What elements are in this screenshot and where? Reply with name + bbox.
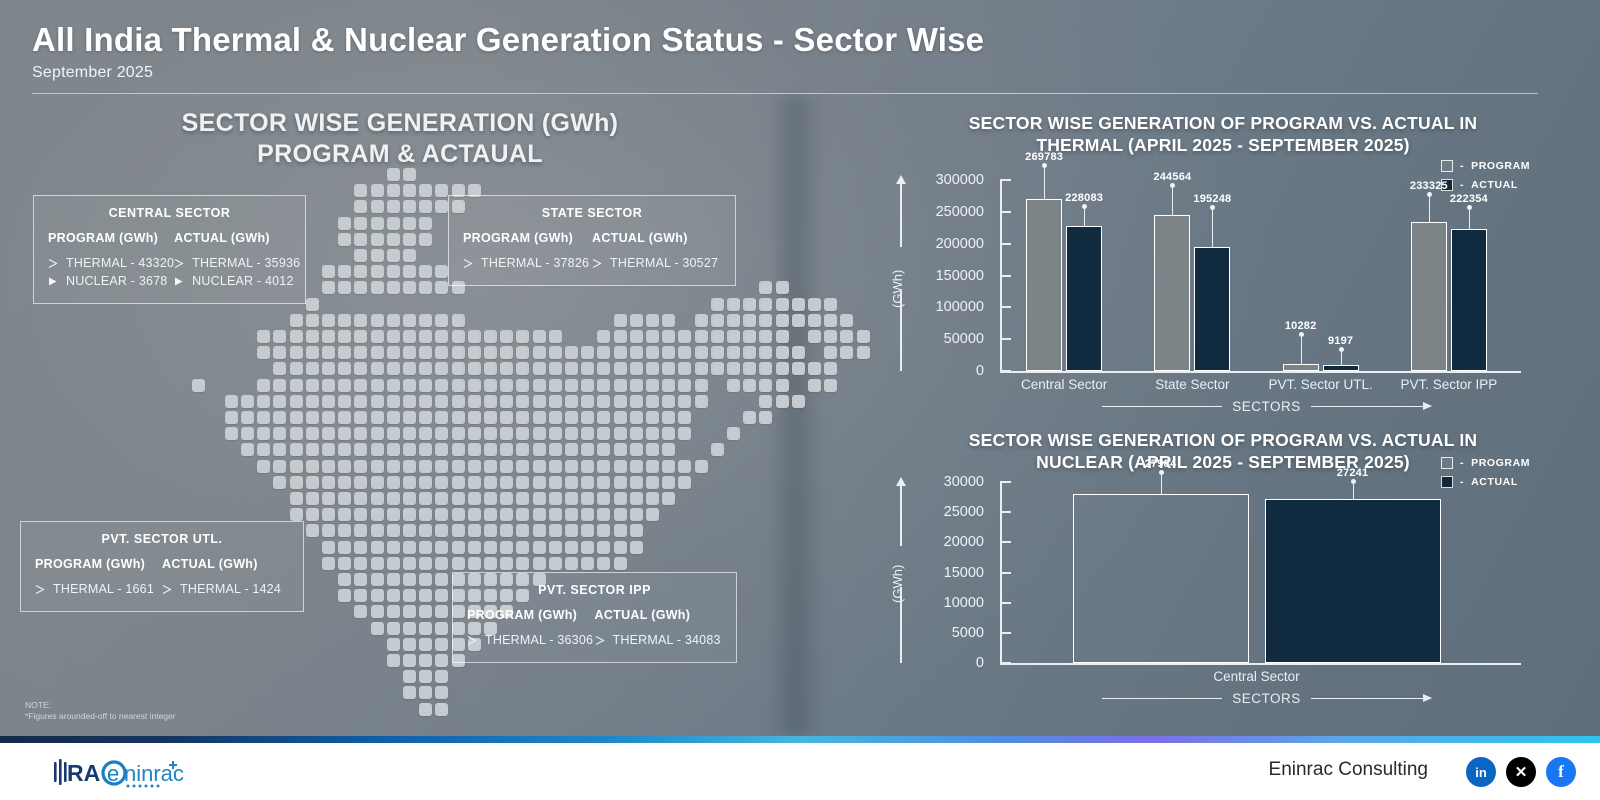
map-dot (371, 427, 384, 440)
map-dot (371, 589, 384, 602)
map-dot (662, 427, 675, 440)
map-dot (387, 184, 400, 197)
map-dot (435, 654, 448, 667)
rac-eninrac-logo: RA e ninrac (52, 755, 187, 791)
map-dot (630, 411, 643, 424)
map-dot (581, 541, 594, 554)
map-dot (435, 589, 448, 602)
map-dot (727, 427, 740, 440)
map-dot (516, 346, 529, 359)
info-card-central-sector: CENTRAL SECTOR PROGRAM (GWh) THERMAL - 4… (33, 195, 306, 304)
map-dot (533, 411, 546, 424)
map-dot (565, 443, 578, 456)
column-header-program: PROGRAM (GWh) (35, 557, 162, 571)
map-dot (290, 427, 303, 440)
map-dot (371, 200, 384, 213)
y-axis-tick-mark (1000, 306, 1011, 308)
bar-value-label: 244564 (1142, 171, 1202, 183)
map-dot (662, 330, 675, 343)
map-dot (500, 508, 513, 521)
map-dot (435, 265, 448, 278)
y-axis-tick-mark (1000, 243, 1011, 245)
map-dot (662, 346, 675, 359)
map-dot (354, 265, 367, 278)
map-dot (419, 476, 432, 489)
map-dot (452, 379, 465, 392)
map-dot (403, 443, 416, 456)
map-dot (630, 362, 643, 375)
map-dot (533, 427, 546, 440)
map-dot (387, 379, 400, 392)
map-dot (614, 476, 627, 489)
map-dot (776, 362, 789, 375)
map-dot (403, 168, 416, 181)
list-item: THERMAL - 35936 (174, 254, 300, 272)
bar-actual (1194, 247, 1230, 371)
column-header-program: PROGRAM (GWh) (48, 231, 174, 245)
map-dot (403, 427, 416, 440)
map-dot (338, 508, 351, 521)
map-dot (662, 443, 675, 456)
map-dot (338, 541, 351, 554)
thermal-chart-plot: 050000100000150000200000250000300000(GWh… (905, 180, 1525, 395)
list-item: NUCLEAR - 4012 (174, 272, 300, 290)
map-dot (549, 476, 562, 489)
map-dot (387, 233, 400, 246)
map-dot (419, 703, 432, 716)
map-dot (776, 314, 789, 327)
map-dot (452, 541, 465, 554)
map-dot (403, 184, 416, 197)
bar-actual (1066, 226, 1102, 371)
map-dot (678, 346, 691, 359)
map-dot (516, 460, 529, 473)
linkedin-icon[interactable]: in (1466, 757, 1496, 787)
chevron-outline-icon (592, 258, 603, 269)
map-dot (484, 541, 497, 554)
map-dot (646, 346, 659, 359)
card-program-column: PROGRAM (GWh) THERMAL - 36306 (467, 608, 595, 649)
list-item: NUCLEAR - 3678 (48, 272, 174, 290)
map-dot (549, 362, 562, 375)
map-dot (306, 362, 319, 375)
map-dot (597, 492, 610, 505)
map-dot (435, 670, 448, 683)
map-dot (387, 654, 400, 667)
map-dot (597, 508, 610, 521)
map-dot (614, 314, 627, 327)
map-dot (549, 492, 562, 505)
map-dot (371, 541, 384, 554)
map-dot (419, 524, 432, 537)
logo-mark-icon: RA e ninrac (52, 756, 187, 790)
map-dot (419, 654, 432, 667)
map-dot (419, 508, 432, 521)
map-dot (597, 476, 610, 489)
x-axis-category-label: Central Sector (1177, 669, 1337, 684)
map-dot (322, 541, 335, 554)
map-dot (484, 443, 497, 456)
map-dot (824, 346, 837, 359)
bar-value-label: 228083 (1054, 192, 1114, 204)
map-dot (322, 395, 335, 408)
map-dot (403, 314, 416, 327)
value-leader-line (1212, 207, 1213, 247)
map-dot (500, 346, 513, 359)
map-dot (371, 346, 384, 359)
map-dot (403, 379, 416, 392)
map-dot (840, 330, 853, 343)
map-dot (614, 492, 627, 505)
map-dot (338, 330, 351, 343)
map-dot (759, 298, 772, 311)
card-actual-column: ACTUAL (GWh) THERMAL - 1424 (162, 557, 289, 598)
map-dot (468, 476, 481, 489)
map-dot (727, 362, 740, 375)
map-dot (533, 508, 546, 521)
map-dot (338, 281, 351, 294)
map-dot (354, 589, 367, 602)
map-dot (435, 476, 448, 489)
map-dot (711, 362, 724, 375)
map-dot (371, 492, 384, 505)
map-dot (549, 411, 562, 424)
map-dot (516, 476, 529, 489)
map-dot (484, 524, 497, 537)
map-dot (468, 411, 481, 424)
map-dot (403, 573, 416, 586)
map-dot (257, 443, 270, 456)
map-dot (354, 362, 367, 375)
map-dot (759, 330, 772, 343)
map-dot (549, 508, 562, 521)
map-dot (662, 411, 675, 424)
map-dot (322, 427, 335, 440)
left-panel-title: SECTOR WISE GENERATION (GWh) PROGRAM & A… (120, 108, 680, 170)
map-dot (371, 476, 384, 489)
bar-value-label: 222354 (1439, 193, 1499, 205)
facebook-glyph: f (1558, 762, 1564, 782)
card-program-column: PROGRAM (GWh) THERMAL - 43320 NUCLEAR - … (48, 231, 174, 290)
page-title: All India Thermal & Nuclear Generation S… (32, 22, 1542, 58)
map-dot (273, 346, 286, 359)
map-dot (419, 200, 432, 213)
map-dot (387, 411, 400, 424)
map-dot (533, 476, 546, 489)
map-dot (516, 508, 529, 521)
map-dot (290, 330, 303, 343)
map-dot (597, 541, 610, 554)
map-dot (338, 379, 351, 392)
map-dot (403, 249, 416, 262)
value-leader-line (1301, 334, 1302, 364)
bar-program (1154, 215, 1190, 371)
map-dot (759, 362, 772, 375)
footer: RA e ninrac Eninrac Consulting in ✕ f (0, 743, 1600, 800)
info-card-pvt-sector-ipp: PVT. SECTOR IPP PROGRAM (GWh) THERMAL - … (452, 572, 737, 663)
map-dot (711, 298, 724, 311)
map-dot (419, 638, 432, 651)
map-dot (419, 492, 432, 505)
map-dot (306, 508, 319, 521)
value-leader-line (1172, 185, 1173, 215)
map-dot (743, 379, 756, 392)
map-dot (273, 443, 286, 456)
map-dot (516, 411, 529, 424)
map-dot (759, 379, 772, 392)
map-dot (435, 541, 448, 554)
map-dot (727, 330, 740, 343)
map-dot (403, 265, 416, 278)
x-axis-label: SECTORS (1232, 399, 1301, 414)
legend-item-program: - PROGRAM (1441, 160, 1530, 172)
map-dot (597, 346, 610, 359)
map-dot (533, 379, 546, 392)
map-dot (354, 443, 367, 456)
map-dot (371, 265, 384, 278)
card-title: PVT. SECTOR UTL. (35, 532, 289, 546)
bar-value-label: 9197 (1311, 335, 1371, 347)
map-dot (387, 249, 400, 262)
y-axis-tick-label: 15000 (944, 565, 984, 581)
infographic-page: All India Thermal & Nuclear Generation S… (0, 0, 1600, 800)
map-dot (646, 427, 659, 440)
map-dot (695, 460, 708, 473)
map-dot (695, 314, 708, 327)
map-dot (435, 703, 448, 716)
map-dot (387, 492, 400, 505)
map-dot (452, 427, 465, 440)
map-dot (549, 557, 562, 570)
map-dot (808, 298, 821, 311)
y-axis-tick-label: 5000 (952, 625, 984, 641)
y-axis-tick-label: 250000 (936, 204, 984, 220)
map-dot (533, 541, 546, 554)
list-item: THERMAL - 1424 (162, 580, 289, 598)
map-dot (484, 346, 497, 359)
y-axis-tick-mark (1000, 275, 1011, 277)
map-dot (581, 346, 594, 359)
map-dot (322, 379, 335, 392)
map-dot (646, 362, 659, 375)
map-dot (387, 589, 400, 602)
map-dot (468, 557, 481, 570)
map-dot (662, 379, 675, 392)
map-dot (533, 362, 546, 375)
legend-dash: - (1460, 457, 1464, 469)
map-dot (387, 557, 400, 570)
map-dot (468, 330, 481, 343)
map-dot (257, 330, 270, 343)
map-dot (759, 395, 772, 408)
list-item-label: THERMAL - 35936 (192, 254, 300, 272)
y-axis-tick-label: 25000 (944, 504, 984, 520)
column-header-actual: ACTUAL (GWh) (174, 231, 300, 245)
legend-swatch-program (1441, 457, 1453, 469)
map-dot (468, 427, 481, 440)
map-dot (306, 524, 319, 537)
map-dot (338, 217, 351, 230)
map-dot (662, 476, 675, 489)
map-dot (630, 427, 643, 440)
map-dot (808, 314, 821, 327)
twitter-x-icon[interactable]: ✕ (1506, 757, 1536, 787)
map-dot (533, 443, 546, 456)
map-dot (792, 362, 805, 375)
map-dot (484, 395, 497, 408)
map-dot (403, 411, 416, 424)
map-dot (435, 557, 448, 570)
map-dot (533, 395, 546, 408)
map-dot (419, 605, 432, 618)
map-dot (306, 298, 319, 311)
map-dot (338, 589, 351, 602)
map-dot (322, 460, 335, 473)
map-dot (630, 443, 643, 456)
map-dot (484, 427, 497, 440)
list-item-label: THERMAL - 1424 (180, 580, 281, 598)
map-dot (581, 476, 594, 489)
map-dot (549, 541, 562, 554)
bar-program (1283, 364, 1319, 371)
card-program-column: PROGRAM (GWh) THERMAL - 1661 (35, 557, 162, 598)
map-dot (290, 314, 303, 327)
map-dot (565, 379, 578, 392)
map-dot (759, 314, 772, 327)
map-dot (290, 508, 303, 521)
map-dot (290, 476, 303, 489)
thermal-chart-title-line1: SECTOR WISE GENERATION OF PROGRAM VS. AC… (905, 112, 1541, 134)
x-axis-line (1000, 371, 1521, 373)
map-dot (500, 411, 513, 424)
map-dot (743, 314, 756, 327)
value-leader-line (1161, 472, 1162, 494)
map-dot (322, 362, 335, 375)
map-dot (484, 476, 497, 489)
map-dot (322, 330, 335, 343)
thermal-chart-title-line2: THERMAL (APRIL 2025 - SEPTEMBER 2025) (905, 134, 1541, 156)
map-dot (419, 622, 432, 635)
map-dot (354, 492, 367, 505)
map-dot (273, 460, 286, 473)
chevron-outline-icon (463, 258, 474, 269)
map-dot (371, 460, 384, 473)
map-dot (419, 314, 432, 327)
map-dot (484, 330, 497, 343)
map-dot (338, 362, 351, 375)
bar-program (1073, 494, 1249, 663)
map-dot (727, 379, 740, 392)
map-dot (646, 476, 659, 489)
map-dot (646, 395, 659, 408)
y-axis-tick-mark (1000, 632, 1011, 634)
map-dot (614, 411, 627, 424)
map-dot (387, 200, 400, 213)
map-dot (824, 298, 837, 311)
map-dot (792, 395, 805, 408)
map-dot (371, 524, 384, 537)
map-dot (614, 362, 627, 375)
list-item: THERMAL - 43320 (48, 254, 174, 272)
map-dot (678, 330, 691, 343)
map-dot (678, 427, 691, 440)
list-item: THERMAL - 37826 (463, 254, 592, 272)
map-dot (273, 427, 286, 440)
map-dot (743, 362, 756, 375)
map-dot (273, 411, 286, 424)
map-dot (452, 443, 465, 456)
map-dot (403, 508, 416, 521)
map-dot (711, 314, 724, 327)
map-dot (840, 346, 853, 359)
map-dot (419, 346, 432, 359)
legend-label-program: PROGRAM (1471, 160, 1530, 172)
y-axis-tick-mark (1000, 211, 1011, 213)
map-dot (403, 638, 416, 651)
map-dot (290, 443, 303, 456)
map-dot (435, 460, 448, 473)
map-dot (338, 395, 351, 408)
map-dot (776, 298, 789, 311)
map-dot (322, 524, 335, 537)
map-dot (435, 346, 448, 359)
map-dot (419, 557, 432, 570)
map-dot (808, 362, 821, 375)
map-dot (614, 379, 627, 392)
map-dot (808, 379, 821, 392)
x-axis-category-label: PVT. Sector IPP (1369, 377, 1529, 392)
info-card-state-sector: STATE SECTOR PROGRAM (GWh) THERMAL - 378… (448, 195, 736, 286)
map-dot (338, 233, 351, 246)
map-dot (500, 476, 513, 489)
map-dot (597, 411, 610, 424)
map-dot (597, 524, 610, 537)
map-dot (403, 281, 416, 294)
map-dot (306, 379, 319, 392)
map-dot (371, 184, 384, 197)
map-dot (306, 395, 319, 408)
map-dot (403, 686, 416, 699)
y-axis-arrow-icon (900, 182, 902, 247)
map-dot (516, 492, 529, 505)
map-dot (354, 200, 367, 213)
map-dot (403, 330, 416, 343)
map-dot (468, 379, 481, 392)
facebook-icon[interactable]: f (1546, 757, 1576, 787)
legend-label-program: PROGRAM (1471, 457, 1530, 469)
map-dot (290, 379, 303, 392)
map-dot (322, 314, 335, 327)
map-dot (533, 524, 546, 537)
map-dot (257, 395, 270, 408)
map-dot (387, 265, 400, 278)
legend-item-program: - PROGRAM (1441, 457, 1530, 469)
map-dot (322, 411, 335, 424)
map-dot (549, 346, 562, 359)
map-dot (338, 265, 351, 278)
map-dot (452, 362, 465, 375)
map-dot (403, 362, 416, 375)
map-dot (743, 298, 756, 311)
map-dot (371, 249, 384, 262)
x-axis-line (1000, 663, 1521, 665)
map-dot (581, 395, 594, 408)
map-dot (500, 379, 513, 392)
map-dot (857, 330, 870, 343)
map-dot (354, 330, 367, 343)
map-dot (322, 557, 335, 570)
map-dot (371, 395, 384, 408)
